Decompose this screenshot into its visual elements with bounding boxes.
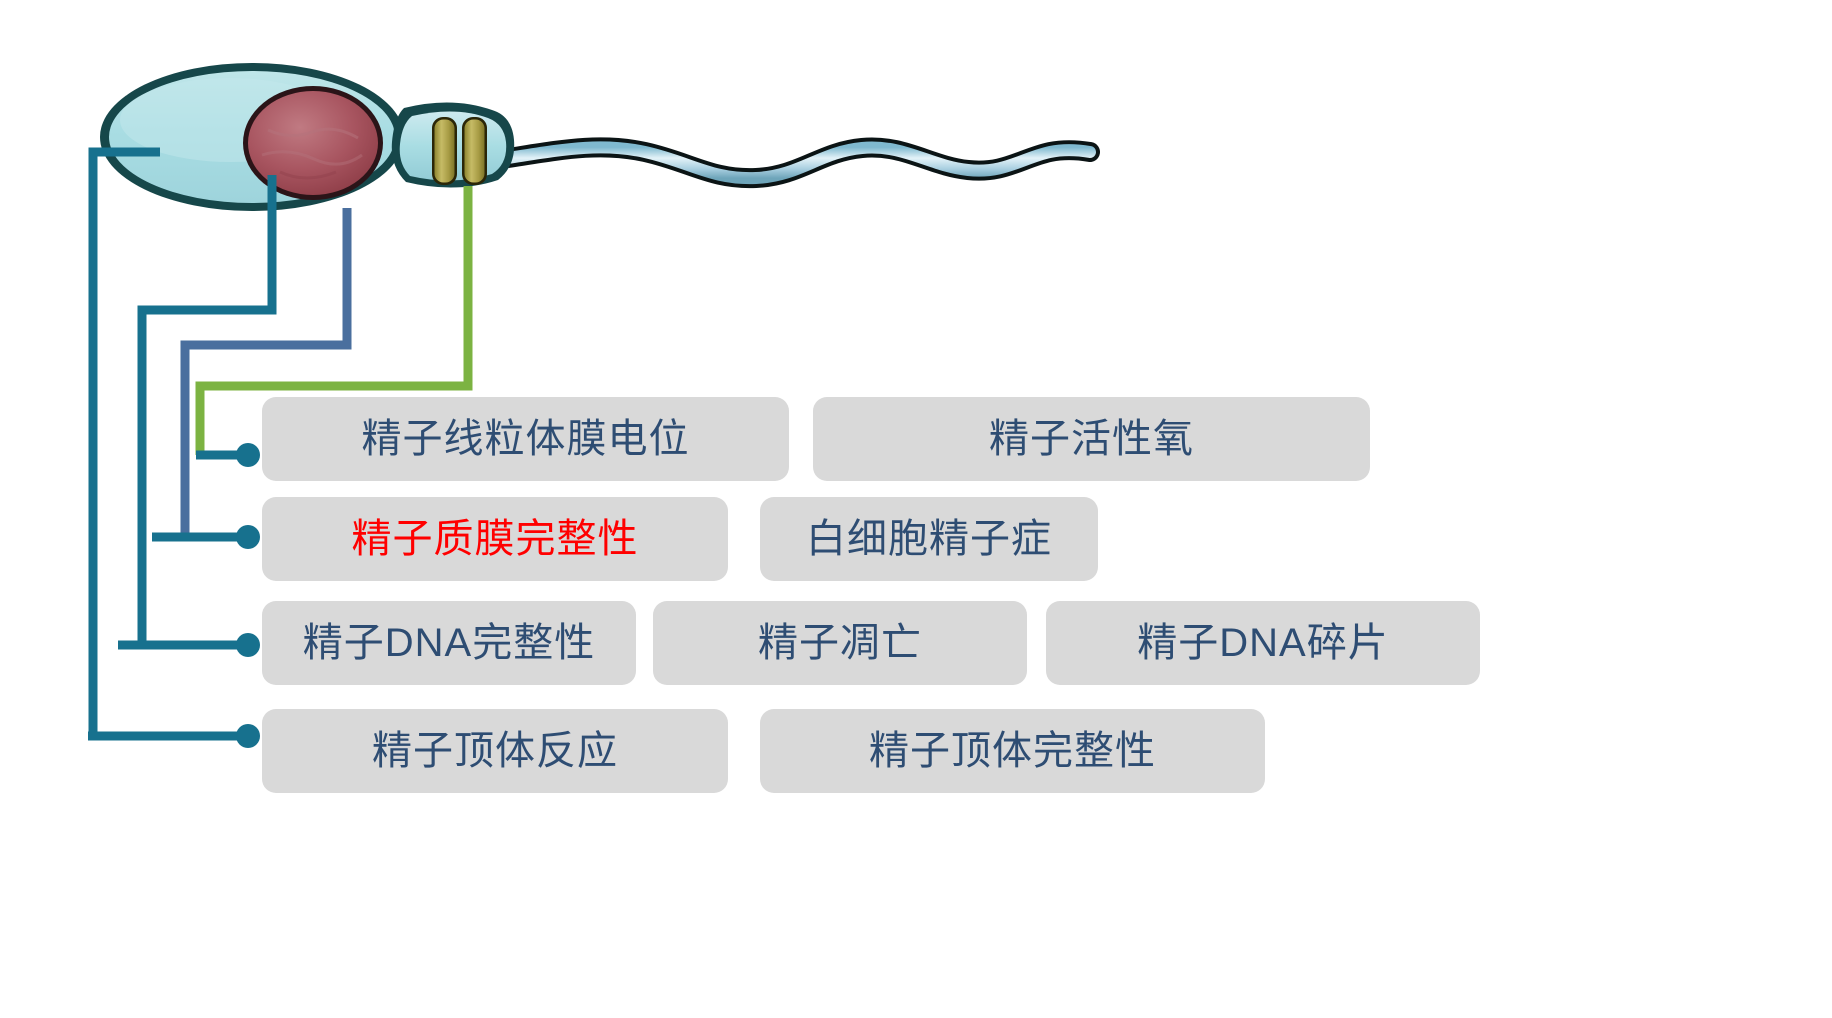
box-leukocytospermia[interactable]: 白细胞精子症: [760, 497, 1098, 581]
sperm-midpiece-icon: [392, 102, 514, 187]
sperm-nucleus-icon: [243, 86, 383, 200]
box-ros[interactable]: 精子活性氧: [813, 397, 1370, 481]
box-mmp[interactable]: 精子线粒体膜电位: [262, 397, 789, 481]
sperm-tail-icon: [508, 147, 1090, 178]
box-dna-integrity[interactable]: 精子DNA完整性: [262, 601, 636, 685]
box-acrosome-reaction[interactable]: 精子顶体反应: [262, 709, 728, 793]
box-dna-fragmentation[interactable]: 精子DNA碎片: [1046, 601, 1480, 685]
box-plasma-membrane-integrity[interactable]: 精子质膜完整性: [262, 497, 728, 581]
diagram-canvas: 精子线粒体膜电位 精子活性氧 精子质膜完整性 白细胞精子症 精子DNA完整性 精…: [0, 0, 1832, 1018]
box-apoptosis[interactable]: 精子凋亡: [653, 601, 1027, 685]
box-acrosome-integrity[interactable]: 精子顶体完整性: [760, 709, 1265, 793]
